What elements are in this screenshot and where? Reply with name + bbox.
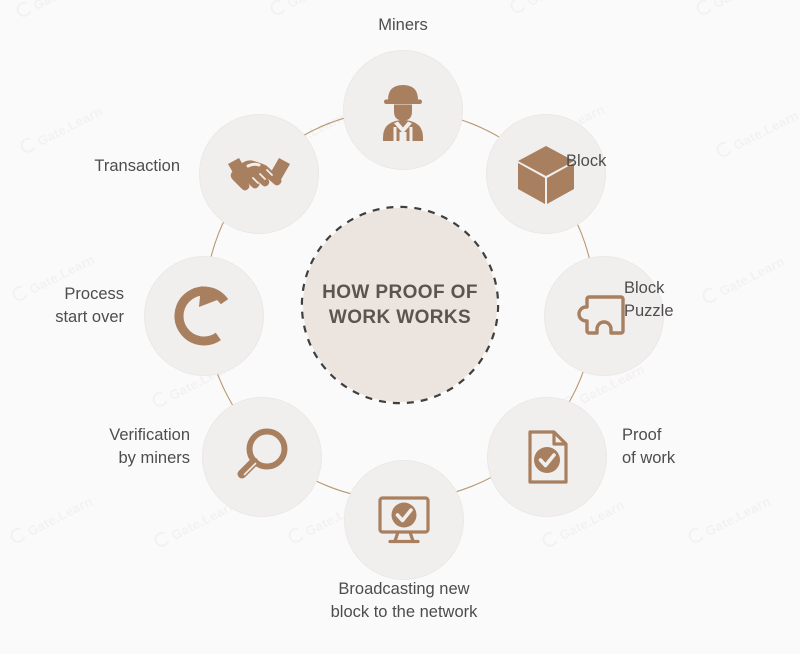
node-label-block: Block [566, 150, 686, 173]
diagram-canvas: Gate.Learn Gate.Learn Gate.Learn Gate.Le… [0, 0, 800, 654]
node-label-verification: Verification by miners [30, 424, 190, 470]
node-verification[interactable] [202, 397, 322, 517]
center-title-line2: WORK WORKS [329, 307, 471, 328]
node-broadcasting[interactable] [344, 460, 464, 580]
page-title: HOW PROOF OF WORK WORKS [318, 280, 483, 330]
monitor-check-icon [368, 484, 440, 556]
magnifier-check-icon [226, 421, 298, 493]
miner-worker-icon [368, 75, 438, 145]
center-title-line1: HOW PROOF OF [322, 282, 478, 303]
node-label-proof-of-work: Proof of work [622, 424, 762, 470]
center-hub: HOW PROOF OF WORK WORKS [303, 208, 497, 402]
node-label-process-start-over: Process start over [14, 283, 124, 329]
refresh-circular-arrow-icon [168, 280, 240, 352]
handshake-icon [219, 134, 299, 214]
node-block[interactable] [486, 114, 606, 234]
node-label-block-puzzle: Block Puzzle [624, 277, 754, 323]
node-miners[interactable] [343, 50, 463, 170]
node-label-broadcasting: Broadcasting new block to the network [276, 578, 532, 624]
node-label-miners: Miners [303, 14, 503, 37]
document-check-icon [512, 422, 582, 492]
node-label-transaction: Transaction [20, 155, 180, 178]
node-proof-of-work[interactable] [487, 397, 607, 517]
node-process-start-over[interactable] [144, 256, 264, 376]
cube-block-icon [510, 138, 582, 210]
node-transaction[interactable] [199, 114, 319, 234]
